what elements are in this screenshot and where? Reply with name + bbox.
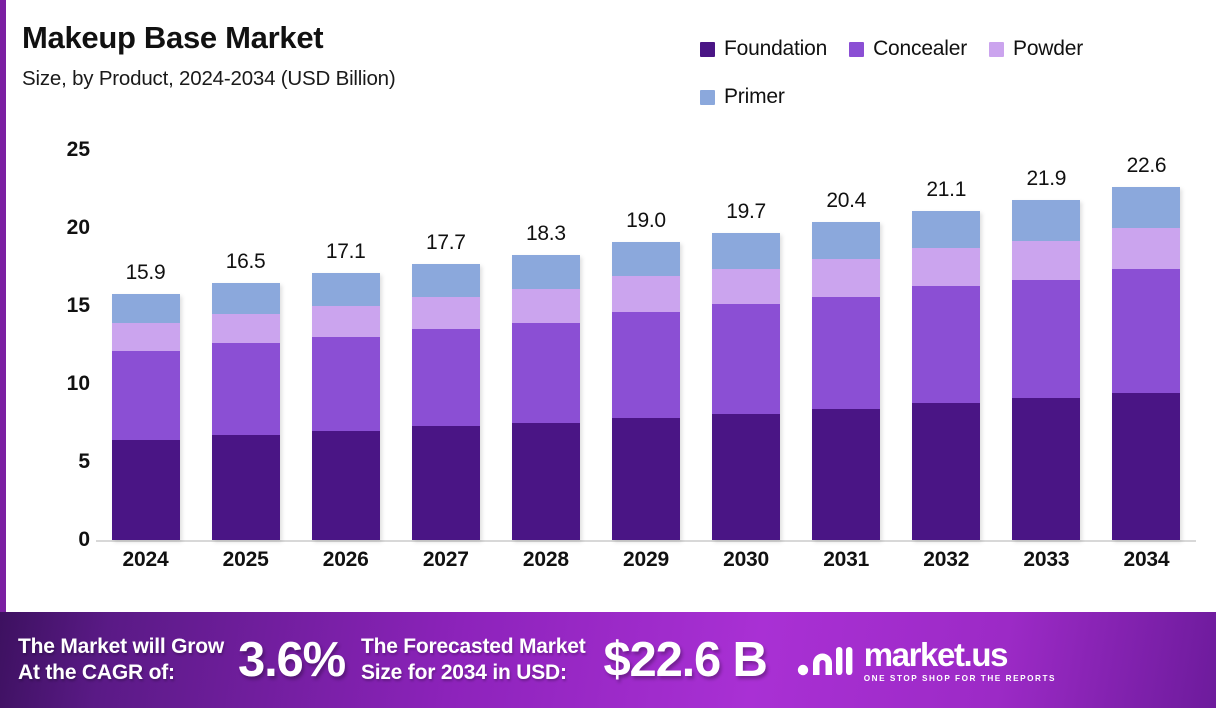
x-axis-labels: 2024202520262027202820292030203120322033… (96, 548, 1196, 572)
bar-stack[interactable] (212, 283, 280, 540)
forecast-label-line1: The Forecasted Market (361, 634, 586, 660)
bar-group-2029[interactable]: 19.0 (596, 150, 695, 540)
chart-infographic: Makeup Base Market Size, by Product, 202… (0, 0, 1216, 708)
bar-segment-concealer[interactable] (912, 286, 980, 403)
cagr-label-line1: The Market will Grow (18, 634, 224, 660)
bar-total-label: 22.6 (1127, 154, 1167, 178)
bar-stack[interactable] (512, 255, 580, 540)
bar-segment-primer[interactable] (512, 255, 580, 289)
legend-item-powder[interactable]: Powder (989, 36, 1083, 62)
bar-stack[interactable] (412, 264, 480, 540)
x-axis-label-2029: 2029 (596, 548, 695, 572)
bar-group-2032[interactable]: 21.1 (897, 150, 996, 540)
logo-mark-icon (797, 639, 855, 681)
bar-segment-foundation[interactable] (812, 409, 880, 540)
bar-stack[interactable] (1112, 187, 1180, 540)
bar-segment-primer[interactable] (612, 242, 680, 276)
bar-total-label: 15.9 (126, 261, 166, 285)
bar-segment-concealer[interactable] (212, 343, 280, 435)
legend-swatch-icon (700, 90, 715, 105)
y-axis-tick: 15 (67, 294, 90, 318)
bar-segment-primer[interactable] (812, 222, 880, 259)
bar-group-2031[interactable]: 20.4 (797, 150, 896, 540)
bar-total-label: 19.7 (726, 200, 766, 224)
bar-segment-powder[interactable] (1112, 228, 1180, 269)
bar-stack[interactable] (1012, 200, 1080, 540)
legend-swatch-icon (989, 42, 1004, 57)
bar-segment-primer[interactable] (212, 283, 280, 314)
bar-segment-concealer[interactable] (312, 337, 380, 431)
bar-segment-primer[interactable] (1112, 187, 1180, 228)
page-subtitle: Size, by Product, 2024-2034 (USD Billion… (22, 67, 396, 91)
cagr-value: 3.6% (238, 632, 345, 688)
bar-segment-concealer[interactable] (612, 312, 680, 418)
bar-segment-powder[interactable] (412, 297, 480, 330)
bar-segment-foundation[interactable] (912, 403, 980, 540)
bar-series-group: 15.916.517.117.718.319.019.720.421.121.9… (96, 150, 1196, 540)
chart-header: Makeup Base Market Size, by Product, 202… (0, 0, 1216, 150)
bar-total-label: 17.1 (326, 240, 366, 264)
bar-segment-powder[interactable] (112, 323, 180, 351)
bar-segment-primer[interactable] (312, 273, 380, 306)
bar-segment-foundation[interactable] (412, 426, 480, 540)
forecast-label-line2: Size for 2034 in USD: (361, 660, 586, 686)
x-axis-label-2024: 2024 (96, 548, 195, 572)
bar-group-2033[interactable]: 21.9 (997, 150, 1096, 540)
cagr-label-line2: At the CAGR of: (18, 660, 224, 686)
bar-total-label: 20.4 (826, 189, 866, 213)
x-axis-label-2033: 2033 (997, 548, 1096, 572)
bar-group-2034[interactable]: 22.6 (1097, 150, 1196, 540)
bar-segment-foundation[interactable] (712, 414, 780, 540)
logo-tagline: ONE STOP SHOP FOR THE REPORTS (864, 674, 1056, 683)
bar-stack[interactable] (312, 273, 380, 540)
footer-banner: The Market will Grow At the CAGR of: 3.6… (0, 612, 1216, 708)
bar-segment-primer[interactable] (112, 294, 180, 324)
bar-segment-concealer[interactable] (1112, 269, 1180, 394)
bar-group-2028[interactable]: 18.3 (496, 150, 595, 540)
plot-area: 0510152025 15.916.517.117.718.319.019.72… (0, 150, 1216, 612)
bar-segment-powder[interactable] (912, 248, 980, 285)
legend-swatch-icon (849, 42, 864, 57)
bar-segment-powder[interactable] (212, 314, 280, 344)
left-accent-stripe (0, 0, 6, 612)
x-axis-line (96, 540, 1196, 542)
bar-segment-powder[interactable] (712, 269, 780, 305)
bar-group-2026[interactable]: 17.1 (296, 150, 395, 540)
bar-segment-foundation[interactable] (312, 431, 380, 540)
bar-group-2025[interactable]: 16.5 (196, 150, 295, 540)
bar-segment-powder[interactable] (312, 306, 380, 337)
bar-segment-foundation[interactable] (612, 418, 680, 540)
bar-stack[interactable] (812, 222, 880, 540)
title-block: Makeup Base Market Size, by Product, 202… (22, 20, 396, 91)
legend-item-concealer[interactable]: Concealer (849, 36, 967, 62)
x-axis-label-2025: 2025 (196, 548, 295, 572)
x-axis-label-2034: 2034 (1097, 548, 1196, 572)
bar-group-2030[interactable]: 19.7 (697, 150, 796, 540)
bar-segment-powder[interactable] (1012, 241, 1080, 280)
y-axis: 0510152025 (30, 150, 90, 550)
bar-group-2027[interactable]: 17.7 (396, 150, 495, 540)
legend-label: Concealer (873, 37, 967, 61)
y-axis-tick: 25 (67, 138, 90, 162)
bar-segment-primer[interactable] (712, 233, 780, 269)
logo-wordmark: market.us (864, 638, 1056, 671)
bar-segment-foundation[interactable] (512, 423, 580, 540)
bar-segment-primer[interactable] (1012, 200, 1080, 241)
legend-item-foundation[interactable]: Foundation (700, 36, 827, 62)
bar-segment-foundation[interactable] (1112, 393, 1180, 540)
bar-segment-concealer[interactable] (1012, 280, 1080, 399)
y-axis-tick: 5 (78, 450, 90, 474)
bar-segment-powder[interactable] (512, 289, 580, 323)
bar-stack[interactable] (712, 233, 780, 540)
bar-group-2024[interactable]: 15.9 (96, 150, 195, 540)
bar-stack[interactable] (612, 242, 680, 540)
legend-item-primer[interactable]: Primer (700, 84, 785, 110)
logo-text: market.us ONE STOP SHOP FOR THE REPORTS (864, 638, 1056, 683)
bar-segment-foundation[interactable] (1012, 398, 1080, 540)
page-title: Makeup Base Market (22, 20, 396, 56)
bar-total-label: 19.0 (626, 209, 666, 233)
bar-segment-primer[interactable] (412, 264, 480, 297)
legend-label: Foundation (724, 37, 827, 61)
bar-total-label: 18.3 (526, 222, 566, 246)
bar-stack[interactable] (912, 211, 980, 540)
bar-segment-concealer[interactable] (512, 323, 580, 423)
legend-label: Primer (724, 85, 785, 109)
bar-segment-foundation[interactable] (112, 440, 180, 540)
cagr-label: The Market will Grow At the CAGR of: (18, 634, 224, 685)
bar-segment-powder[interactable] (812, 259, 880, 296)
bar-total-label: 21.1 (926, 178, 966, 202)
y-axis-tick: 20 (67, 216, 90, 240)
x-axis-label-2028: 2028 (496, 548, 595, 572)
bar-segment-concealer[interactable] (412, 329, 480, 426)
bar-segment-foundation[interactable] (212, 435, 280, 540)
bar-total-label: 21.9 (1027, 167, 1067, 191)
bar-stack[interactable] (112, 294, 180, 540)
y-axis-tick: 10 (67, 372, 90, 396)
x-axis-label-2032: 2032 (897, 548, 996, 572)
chart-legend: FoundationConcealerPowderPrimer (700, 36, 1200, 132)
x-axis-label-2030: 2030 (697, 548, 796, 572)
market-us-logo[interactable]: market.us ONE STOP SHOP FOR THE REPORTS (797, 638, 1056, 683)
bar-segment-concealer[interactable] (712, 304, 780, 413)
bar-segment-concealer[interactable] (812, 297, 880, 409)
bar-segment-concealer[interactable] (112, 351, 180, 440)
legend-label: Powder (1013, 37, 1083, 61)
y-axis-tick: 0 (78, 528, 90, 552)
bar-total-label: 17.7 (426, 231, 466, 255)
legend-swatch-icon (700, 42, 715, 57)
x-axis-label-2027: 2027 (396, 548, 495, 572)
forecast-label: The Forecasted Market Size for 2034 in U… (361, 634, 586, 685)
bar-segment-primer[interactable] (912, 211, 980, 248)
bar-segment-powder[interactable] (612, 276, 680, 312)
x-axis-label-2031: 2031 (797, 548, 896, 572)
forecast-value: $22.6 B (603, 632, 766, 688)
bar-total-label: 16.5 (226, 250, 266, 274)
x-axis-label-2026: 2026 (296, 548, 395, 572)
